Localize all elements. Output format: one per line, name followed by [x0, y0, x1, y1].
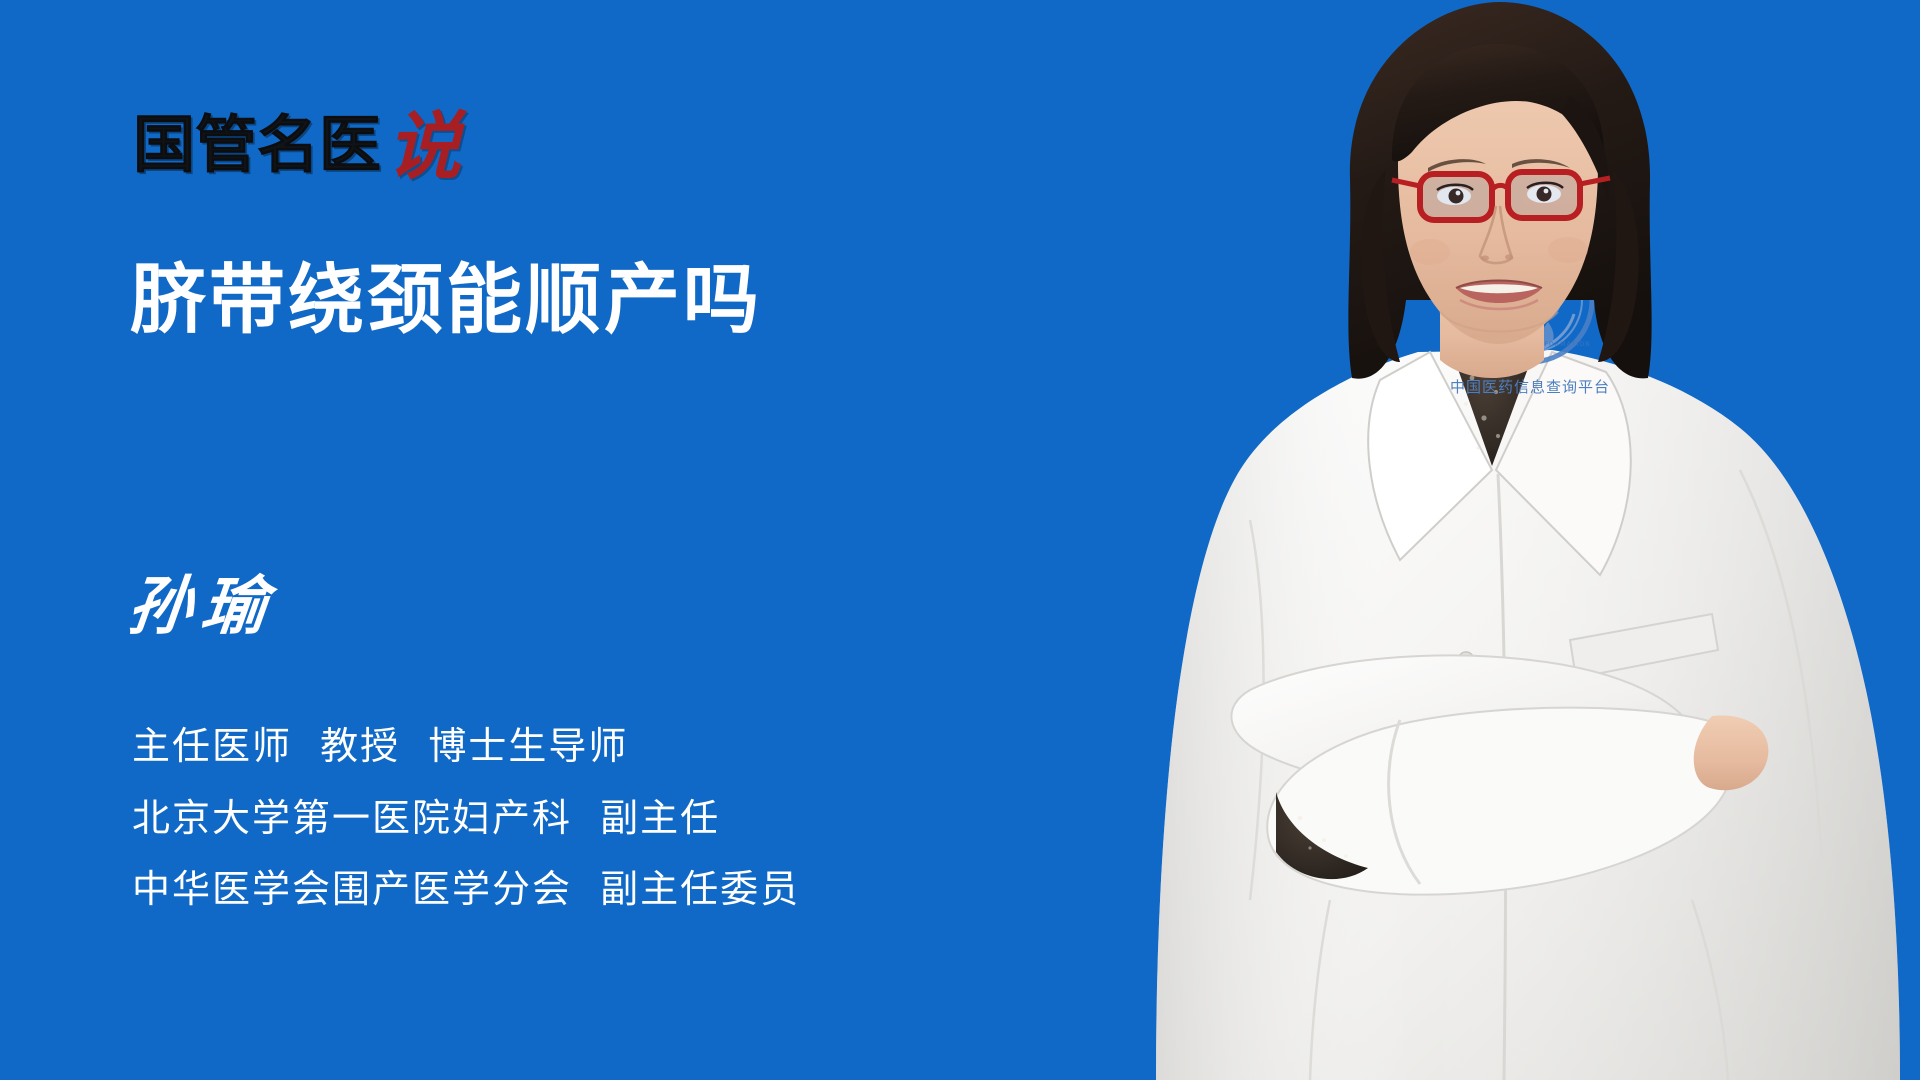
credential-line: 主任医师 教授 博士生导师: [132, 725, 800, 769]
doctor-name: 孙瑜: [125, 575, 280, 639]
doctor-portrait-illustration: 中国医药信息查询平台 CHINA MEDICAL INFORMATION 中国医…: [1100, 0, 1920, 1080]
credential-line: 中华医学会围产医学分会 副主任委员: [132, 868, 800, 912]
doctor-credentials: 主任医师 教授 博士生导师 北京大学第一医院妇产科 副主任 中华医学会围产医学分…: [132, 725, 800, 912]
page-title: 脐带绕颈能顺产吗: [130, 258, 762, 342]
head: [1348, 2, 1651, 379]
brand-logo-accent-text: 说: [387, 110, 461, 184]
brand-logo: 国管名医 说: [133, 96, 461, 176]
doctor-portrait: 中国医药信息查询平台 CHINA MEDICAL INFORMATION 中国医…: [1100, 0, 1920, 1080]
credential-line: 北京大学第一医院妇产科 副主任: [132, 797, 800, 841]
badge-organization-text: 中国医药信息查询平台: [1450, 378, 1610, 396]
brand-logo-primary-text: 国管名医: [133, 114, 381, 176]
video-cover-slide: 国管名医 说 脐带绕颈能顺产吗 孙瑜 主任医师 教授 博士生导师 北京大学第一医…: [0, 0, 1920, 1080]
